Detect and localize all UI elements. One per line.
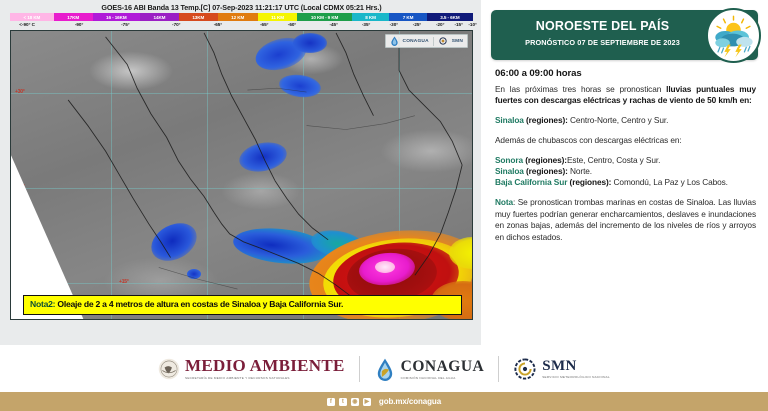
regions-label: (regiones): bbox=[524, 115, 568, 125]
nota-label: Nota bbox=[495, 197, 513, 207]
regions-label: (regiones): bbox=[524, 166, 568, 176]
colorbar-tick: -15° bbox=[454, 22, 462, 27]
logo-divider-1 bbox=[359, 356, 360, 382]
conagua-smn-watermark: CONAGUA SMN bbox=[385, 34, 468, 48]
region-title: NOROESTE DEL PAÍS bbox=[499, 19, 706, 33]
lat-label-15: +15° bbox=[119, 279, 129, 285]
mexico-eagle-seal-icon bbox=[158, 358, 180, 380]
logo-smn: SMN SERVICIO METEOROLÓGICO NACIONAL bbox=[513, 357, 610, 381]
secondary-region-list: Sonora (regiones):Este, Centro, Costa y … bbox=[495, 155, 756, 189]
region-line: Sinaloa (regiones): Centro-Norte, Centro… bbox=[495, 115, 756, 126]
watermark-conagua-text: CONAGUA bbox=[403, 39, 429, 44]
time-range-heading: 06:00 a 09:00 horas bbox=[495, 68, 756, 79]
nota-paragraph: Nota: Se pronostican trombas marinas en … bbox=[495, 197, 756, 243]
conagua-drop-icon bbox=[390, 36, 399, 46]
colorbar-tick: -20° bbox=[436, 22, 444, 27]
colorbar-tick: <-90° C bbox=[19, 22, 35, 27]
satellite-image-title: GOES-16 ABI Banda 13 Temp.[C] 07-Sep-202… bbox=[10, 3, 473, 12]
watermark-divider bbox=[433, 37, 434, 46]
satellite-map-panel: GOES-16 ABI Banda 13 Temp.[C] 07-Sep-202… bbox=[0, 0, 481, 345]
regions-value: Norte. bbox=[568, 166, 592, 176]
forecast-date: PRONÓSTICO 07 DE SEPTIEMBRE DE 2023 bbox=[499, 38, 706, 47]
colorbar-tick: -30° bbox=[390, 22, 398, 27]
colorbar-segment: 12 KM bbox=[218, 13, 258, 21]
facebook-icon[interactable]: f bbox=[327, 398, 335, 406]
colorbar-segment: < 18 KM bbox=[10, 13, 54, 21]
state-name: Baja California Sur bbox=[495, 177, 567, 187]
forecast-body: 06:00 a 09:00 horas En las próximas tres… bbox=[491, 60, 758, 243]
colorbar-tick: -35° bbox=[362, 22, 370, 27]
logo-medio-ambiente: MEDIO AMBIENTE SECRETARÍA DE MEDIO AMBIE… bbox=[158, 357, 345, 380]
colorbar-segment: 16 - 16KM bbox=[93, 13, 141, 21]
forecast-info-panel: NOROESTE DEL PAÍS PRONÓSTICO 07 DE SEPTI… bbox=[481, 0, 768, 345]
lat-label-30: +30° bbox=[15, 89, 25, 95]
state-name: Sinaloa bbox=[495, 115, 524, 125]
nota-text: : Se pronostican trombas marinas en cost… bbox=[495, 197, 756, 241]
colorbar-tick: -70° bbox=[172, 22, 180, 27]
social-bar: f t ◉ ▶ gob.mx/conagua bbox=[0, 392, 768, 411]
logo-medio-ambiente-sub: SECRETARÍA DE MEDIO AMBIENTE Y RECURSOS … bbox=[185, 376, 345, 380]
logo-smn-sub: SERVICIO METEOROLÓGICO NACIONAL bbox=[542, 375, 610, 379]
colorbar-segment: 8 KM bbox=[352, 13, 390, 21]
youtube-icon[interactable]: ▶ bbox=[363, 398, 371, 406]
nota2-text: Oleaje de 2 a 4 metros de altura en cost… bbox=[55, 299, 343, 309]
infographic-page: GOES-16 ABI Banda 13 Temp.[C] 07-Sep-202… bbox=[0, 0, 768, 411]
logo-row: MEDIO AMBIENTE SECRETARÍA DE MEDIO AMBIE… bbox=[0, 345, 768, 392]
state-name: Sinaloa bbox=[495, 166, 524, 176]
colorbar-tick-labels: <-90° C-90°-75°-70°-65°-65°-60°-45°-35°-… bbox=[10, 21, 473, 29]
forecast-header-card: NOROESTE DEL PAÍS PRONÓSTICO 07 DE SEPTI… bbox=[491, 10, 758, 60]
smn-aztec-spiral-icon bbox=[513, 357, 537, 381]
smn-spiral-icon bbox=[438, 36, 448, 46]
colorbar-tick: -75° bbox=[121, 22, 129, 27]
colorbar-tick: -45° bbox=[329, 22, 337, 27]
logo-smn-text: SMN bbox=[542, 358, 610, 374]
twitter-icon[interactable]: t bbox=[339, 398, 347, 406]
intro-plain: En las próximas tres horas se pronostica… bbox=[495, 84, 666, 94]
colorbar-segment: 14KM bbox=[140, 13, 179, 21]
sun-cloud-lightning-rain-icon bbox=[706, 8, 761, 63]
logo-conagua: CONAGUA COMISIÓN NACIONAL DEL AGUA bbox=[374, 357, 485, 381]
region-line: Sinaloa (regiones): Norte. bbox=[495, 166, 756, 177]
state-name: Sonora bbox=[495, 155, 523, 165]
colorbar-tick: -65° bbox=[260, 22, 268, 27]
nota2-label: Nota2: bbox=[30, 299, 55, 309]
social-url[interactable]: gob.mx/conagua bbox=[379, 397, 441, 406]
instagram-icon[interactable]: ◉ bbox=[351, 398, 359, 406]
satellite-image[interactable]: +30° +25° +15° CONAGUA SMN Nota2: Oleaje… bbox=[10, 30, 473, 320]
colorbar-tick: -65° bbox=[214, 22, 222, 27]
regions-label: (regiones): bbox=[523, 155, 567, 165]
primary-region-list: Sinaloa (regiones): Centro-Norte, Centro… bbox=[495, 115, 756, 126]
logo-conagua-text: CONAGUA bbox=[401, 358, 485, 375]
coastline-overlay bbox=[11, 31, 472, 317]
regions-label: (regiones): bbox=[567, 177, 611, 187]
region-line: Baja California Sur (regiones): Comondú,… bbox=[495, 177, 756, 188]
colorbar-tick: -10° bbox=[468, 22, 476, 27]
temperature-colorbar: < 18 KM17KM16 - 16KM14KM13KM12 KM11 KM10… bbox=[10, 13, 473, 21]
logo-medio-ambiente-text: MEDIO AMBIENTE bbox=[185, 357, 345, 375]
page-footer: MEDIO AMBIENTE SECRETARÍA DE MEDIO AMBIE… bbox=[0, 345, 768, 411]
regions-value: Comondú, La Paz y Los Cabos. bbox=[611, 177, 728, 187]
conagua-drop-eagle-icon bbox=[374, 357, 396, 381]
colorbar-tick: -25° bbox=[413, 22, 421, 27]
regions-value: Este, Centro, Costa y Sur. bbox=[567, 155, 660, 165]
intro-paragraph: En las próximas tres horas se pronostica… bbox=[495, 84, 756, 107]
colorbar-segment: 13KM bbox=[179, 13, 218, 21]
colorbar-segment: 17KM bbox=[54, 13, 93, 21]
colorbar-segment: 10 KM - 9 KM bbox=[297, 13, 351, 21]
region-line: Sonora (regiones):Este, Centro, Costa y … bbox=[495, 155, 756, 166]
colorbar-segment: 7 KM bbox=[389, 13, 427, 21]
logo-conagua-sub: COMISIÓN NACIONAL DEL AGUA bbox=[401, 376, 485, 380]
watermark-smn-text: SMN bbox=[452, 39, 463, 44]
nota2-banner: Nota2: Oleaje de 2 a 4 metros de altura … bbox=[23, 295, 462, 316]
colorbar-segment: 11 KM bbox=[258, 13, 298, 21]
logo-divider-2 bbox=[498, 356, 499, 382]
colorbar-segment: 3.5 - 6KM bbox=[427, 13, 473, 21]
secondary-intro-paragraph: Además de chubascos con descargas eléctr… bbox=[495, 135, 756, 146]
colorbar-tick: -90° bbox=[75, 22, 83, 27]
colorbar-tick: -60° bbox=[288, 22, 296, 27]
regions-value: Centro-Norte, Centro y Sur. bbox=[568, 115, 669, 125]
